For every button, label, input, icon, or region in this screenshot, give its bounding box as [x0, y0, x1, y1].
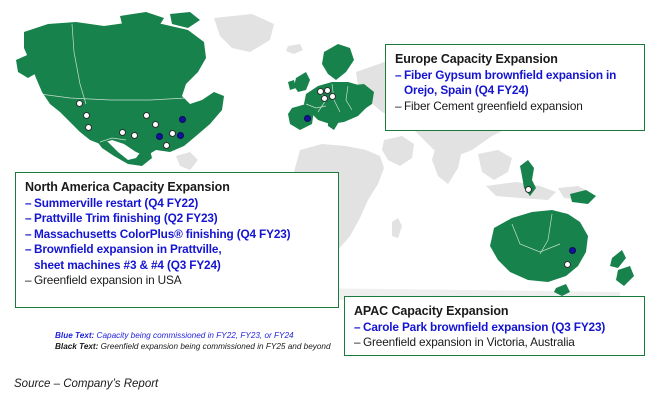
bullet-dash-icon: – [354, 320, 363, 335]
callout-bullet-text: Orejo, Spain (Q4 FY24) [404, 83, 529, 98]
callout-bullet: –Brownfield expansion in Prattville, [25, 242, 330, 257]
callout-list-north-america: –Summerville restart (Q4 FY22)–Prattvill… [25, 196, 330, 288]
callout-bullet: –Orejo, Spain (Q4 FY24) [395, 83, 636, 98]
site-marker-white [163, 142, 170, 149]
bullet-dash-icon: – [25, 273, 34, 288]
bullet-dash-icon: – [25, 196, 34, 211]
bullet-dash-icon: – [25, 227, 34, 242]
callout-title-apac: APAC Capacity Expansion [354, 303, 636, 319]
callout-bullet: –Fiber Cement greenfield expansion [395, 99, 636, 114]
callout-bullet: –Summerville restart (Q4 FY22) [25, 196, 330, 211]
color-legend: Blue Text: Capacity being commissioned i… [55, 330, 331, 352]
bullet-dash-icon: – [395, 99, 404, 114]
site-marker-white [321, 95, 328, 102]
callout-list-europe: –Fiber Gypsum brownfield expansion in–Or… [395, 68, 636, 114]
legend-label-black: Black Text: [55, 342, 98, 351]
callout-bullet: –Greenfield expansion in Victoria, Austr… [354, 335, 636, 350]
callout-bullet-text: Greenfield expansion in Victoria, Austra… [363, 335, 575, 350]
site-marker-white [76, 100, 83, 107]
callout-bullet-text: Massachusetts ColorPlus® finishing (Q4 F… [34, 227, 290, 242]
site-marker-white [525, 186, 532, 193]
callout-bullet: –Fiber Gypsum brownfield expansion in [395, 68, 636, 83]
legend-text-black: Greenfield expansion being commissioned … [98, 342, 330, 351]
callout-bullet-text: Summerville restart (Q4 FY22) [34, 196, 198, 211]
callout-europe: Europe Capacity Expansion –Fiber Gypsum … [385, 44, 645, 131]
site-marker-white [131, 132, 138, 139]
site-marker-white [85, 124, 92, 131]
legend-text-blue: Capacity being commissioned in FY22, FY2… [94, 331, 293, 340]
callout-bullet: –Massachusetts ColorPlus® finishing (Q4 … [25, 227, 330, 242]
site-marker-white [152, 121, 159, 128]
site-marker-white [119, 129, 126, 136]
source-note: Source – Company’s Report [14, 378, 158, 390]
bullet-dash-icon: – [354, 335, 363, 350]
callout-title-europe: Europe Capacity Expansion [395, 51, 636, 67]
callout-bullet: –Greenfield expansion in USA [25, 273, 330, 288]
callout-bullet-text: Fiber Gypsum brownfield expansion in [404, 68, 616, 83]
site-marker-white [169, 130, 176, 137]
site-marker-blue [177, 132, 184, 139]
callout-title-north-america: North America Capacity Expansion [25, 179, 330, 195]
site-marker-white [317, 88, 324, 95]
callout-bullet: –Prattville Trim finishing (Q2 FY23) [25, 211, 330, 226]
callout-list-apac: –Carole Park brownfield expansion (Q3 FY… [354, 320, 636, 351]
callout-bullet-text: Greenfield expansion in USA [34, 273, 181, 288]
site-marker-white [564, 261, 571, 268]
callout-bullet-text: Carole Park brownfield expansion (Q3 FY2… [363, 320, 605, 335]
callout-bullet-text: Prattville Trim finishing (Q2 FY23) [34, 211, 218, 226]
site-marker-white [143, 112, 150, 119]
site-marker-white [83, 112, 90, 119]
bullet-dash-icon: – [25, 211, 34, 226]
callout-apac: APAC Capacity Expansion –Carole Park bro… [344, 296, 645, 356]
bullet-dash-icon: – [25, 242, 34, 257]
callout-bullet: –Carole Park brownfield expansion (Q3 FY… [354, 320, 636, 335]
legend-label-blue: Blue Text: [55, 331, 94, 340]
site-marker-blue [304, 115, 311, 122]
site-marker-blue [179, 116, 186, 123]
legend-line-blue: Blue Text: Capacity being commissioned i… [55, 330, 331, 341]
callout-north-america: North America Capacity Expansion –Summer… [15, 172, 339, 308]
site-marker-white [329, 93, 336, 100]
legend-line-black: Black Text: Greenfield expansion being c… [55, 341, 331, 352]
callout-bullet-text: sheet machines #3 & #4 (Q3 FY24) [34, 258, 221, 273]
site-marker-blue [569, 247, 576, 254]
bullet-dash-icon: – [395, 68, 404, 83]
callout-bullet-text: Fiber Cement greenfield expansion [404, 99, 583, 114]
callout-bullet: –sheet machines #3 & #4 (Q3 FY24) [25, 258, 330, 273]
callout-bullet-text: Brownfield expansion in Prattville, [34, 242, 221, 257]
site-marker-blue [156, 133, 163, 140]
slide-canvas: North America Capacity Expansion –Summer… [0, 0, 669, 404]
